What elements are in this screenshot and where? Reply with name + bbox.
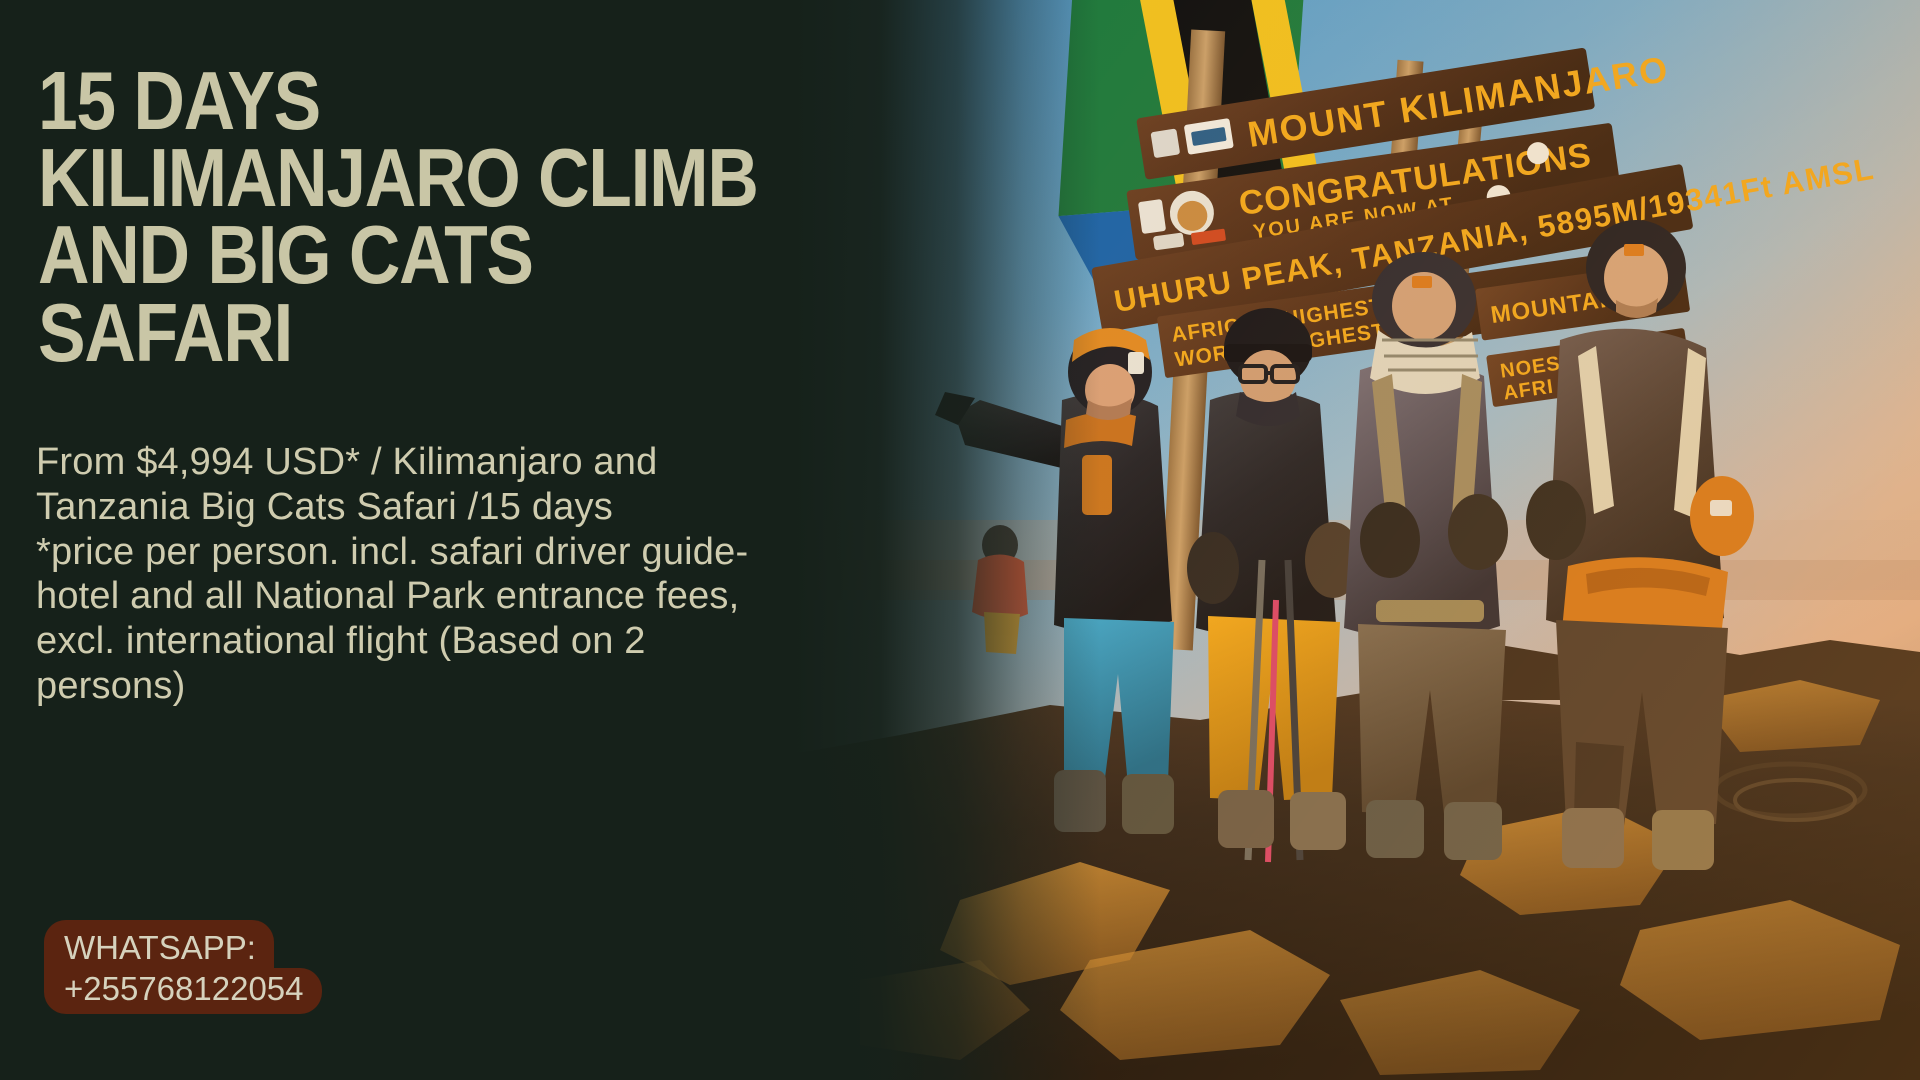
page-title: 15 DAYS KILIMANJARO CLIMB AND BIG CATS S… <box>38 62 778 371</box>
price-description: From $4,994 USD* / Kilimanjaro and Tanza… <box>36 440 756 709</box>
text-content: 15 DAYS KILIMANJARO CLIMB AND BIG CATS S… <box>0 0 900 1080</box>
whatsapp-label: WHATSAPP: <box>44 920 274 968</box>
whatsapp-number[interactable]: +255768122054 <box>44 968 322 1014</box>
whatsapp-badge[interactable]: WHATSAPP: +255768122054 <box>44 920 322 1014</box>
promo-banner: MOUNT KILIMANJARO CONGRATULATIONS YOU AR… <box>0 0 1920 1080</box>
